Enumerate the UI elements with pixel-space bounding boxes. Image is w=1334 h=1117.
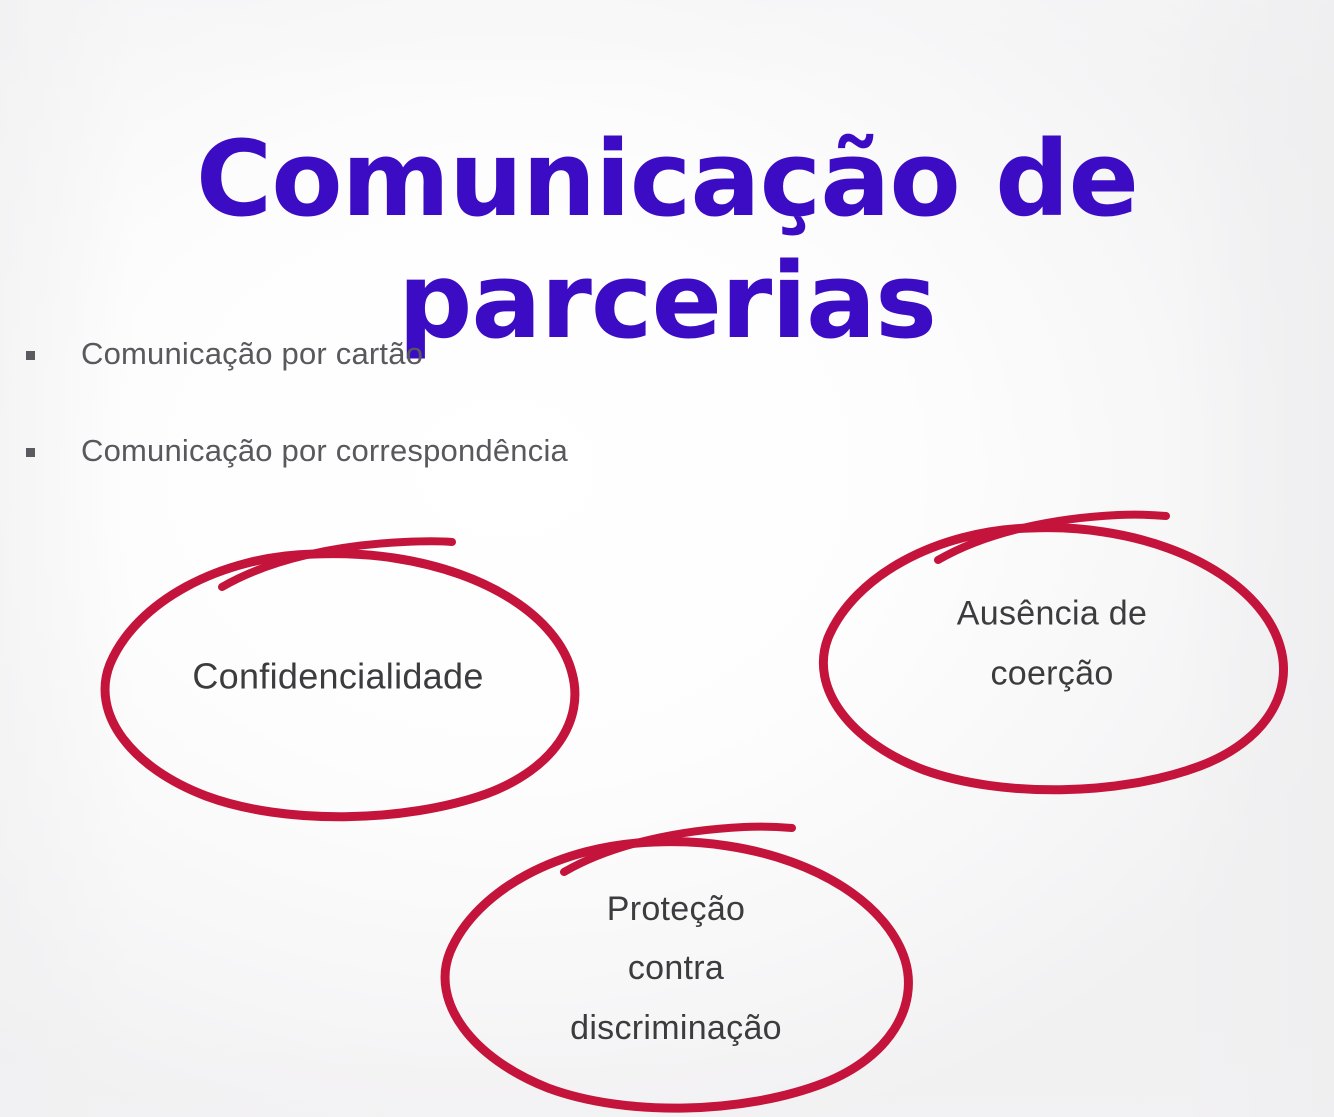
bullet-list: Comunicação por cartão Comunicação por c…: [26, 335, 568, 529]
presentation-slide: Comunicação de parcerias Comunicação por…: [0, 0, 1334, 1117]
hand-drawn-ellipse-icon: [88, 528, 588, 824]
page-title: Comunicação de parcerias: [0, 118, 1334, 363]
circled-concept-coercao: Ausência de coerção: [808, 504, 1296, 796]
bullet-label: Comunicação por cartão: [81, 335, 423, 374]
square-bullet-icon: [26, 351, 35, 360]
circled-concept-discriminacao: Proteção contra discriminação: [430, 820, 922, 1112]
page-title-line-1: Comunicação de: [0, 118, 1334, 241]
list-item: Comunicação por cartão: [26, 335, 568, 374]
square-bullet-icon: [26, 448, 35, 457]
circled-concept-confidencialidade: Confidencialidade: [88, 528, 588, 824]
list-item: Comunicação por correspondência: [26, 432, 568, 471]
hand-drawn-ellipse-icon: [808, 504, 1296, 796]
bullet-label: Comunicação por correspondência: [81, 432, 568, 471]
hand-drawn-ellipse-icon: [430, 820, 922, 1112]
